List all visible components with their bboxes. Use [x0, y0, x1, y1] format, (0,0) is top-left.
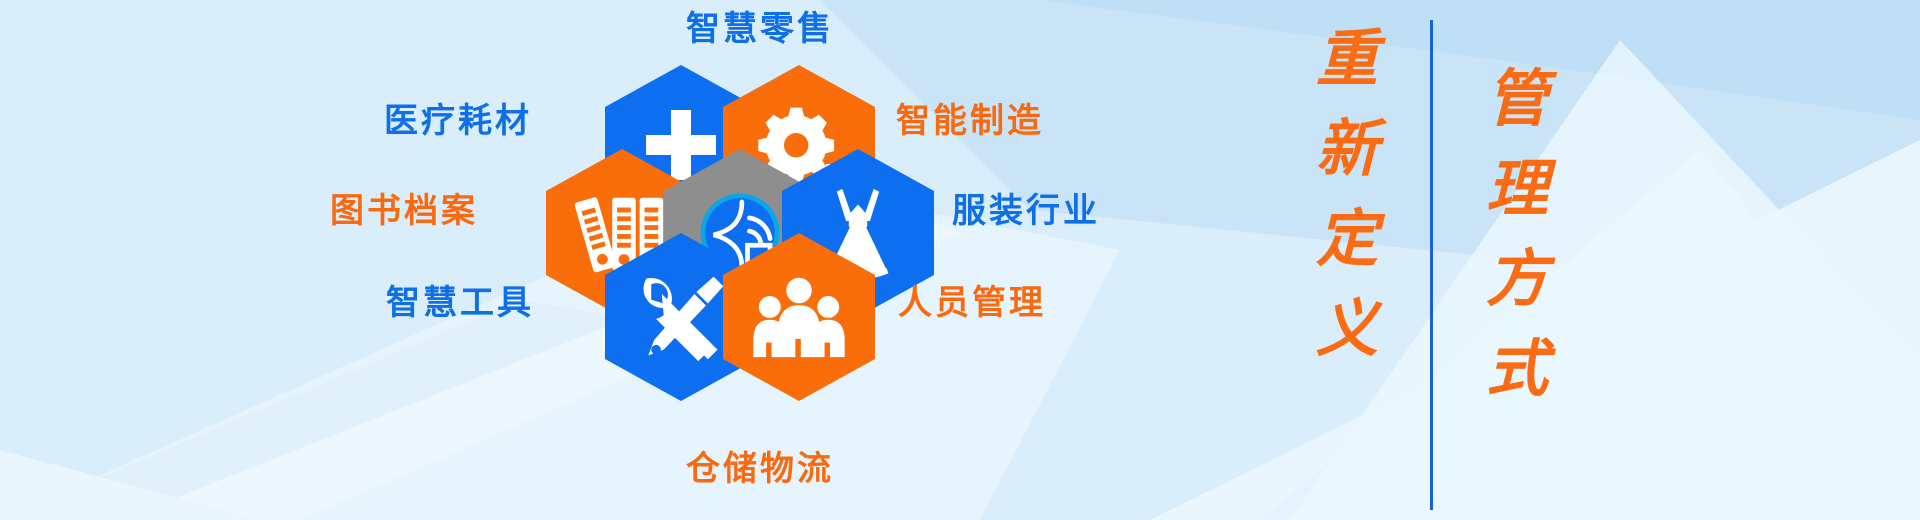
slogan-column-1: 重 新 定 义 — [1292, 8, 1402, 368]
slogan-char-2-2: 理 — [1462, 138, 1572, 228]
label-warehouse: 仓储物流 — [686, 452, 834, 486]
slogan-char-1-3: 定 — [1292, 188, 1402, 278]
banner-canvas: 智慧零售 医疗耗材 智能制造 图书档案 服装行业 智慧工具 人员管理 仓储物流 … — [0, 0, 1920, 520]
background-bands-svg — [0, 0, 1920, 520]
label-apparel: 服装行业 — [952, 194, 1100, 228]
slogan-char-2-1: 管 — [1462, 48, 1572, 138]
label-manufacturing: 智能制造 — [896, 104, 1044, 138]
label-medical: 医疗耗材 — [384, 104, 532, 138]
slogan-char-2-3: 方 — [1462, 228, 1572, 318]
label-tools: 智慧工具 — [386, 286, 534, 320]
slogan-char-1-1: 重 — [1292, 8, 1402, 98]
tools-icon — [633, 269, 729, 365]
slogan-divider — [1430, 20, 1433, 510]
label-books: 图书档案 — [330, 194, 478, 228]
slogan-char-1-2: 新 — [1292, 98, 1402, 188]
slogan-block: 重 新 定 义 管 理 方 式 — [1280, 0, 1610, 520]
background-decoration — [0, 0, 1920, 520]
slogan-char-2-4: 式 — [1462, 318, 1572, 408]
slogan-char-1-4: 义 — [1292, 278, 1402, 368]
label-retail: 智慧零售 — [686, 12, 834, 46]
label-people: 人员管理 — [898, 286, 1046, 320]
slogan-column-2: 管 理 方 式 — [1462, 48, 1572, 408]
people-icon — [751, 275, 847, 359]
